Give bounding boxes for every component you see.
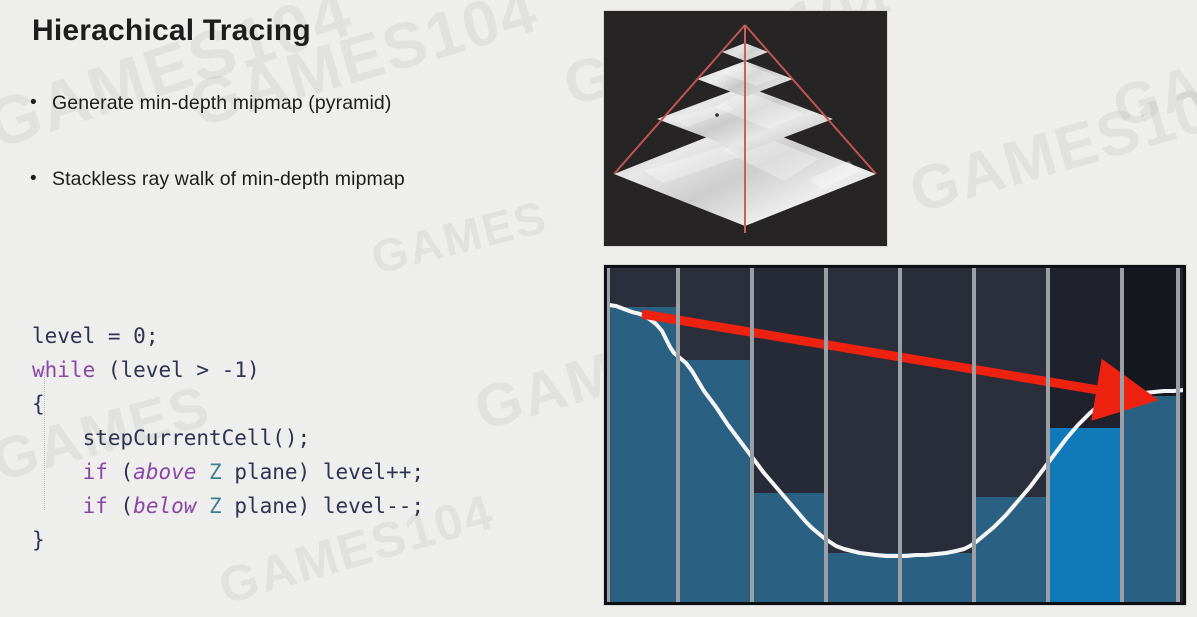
list-item: • Generate min-depth mipmap (pyramid) [26,90,566,116]
code-token: if [83,460,108,484]
code-line-4: stepCurrentCell(); [32,421,424,455]
bullet-dot-icon: • [26,90,52,116]
slide-root: GAMES104 GAMES104 GAMES104 GAMES104 GAME… [0,0,1197,617]
min-depth-fill-4 [826,553,900,603]
code-token: stepCurrentCell(); [32,426,310,450]
code-token: level [121,358,184,382]
min-depth-fill-3 [752,493,826,603]
mipmap-pyramid-figure [604,11,887,246]
code-token: { [32,392,45,416]
code-token: = [95,324,133,348]
code-token: Z [209,494,222,518]
code-token [32,460,83,484]
code-token: above [133,460,196,484]
code-token: below [133,494,196,518]
code-token: while [32,358,95,382]
code-token [196,460,209,484]
bullet-list: • Generate min-depth mipmap (pyramid) • … [26,90,566,242]
slide-title: Hierachical Tracing [32,14,311,48]
code-token: ( [108,494,133,518]
code-token: ( [108,460,133,484]
code-line-1: level = 0; [32,319,424,353]
code-token: plane) [222,460,323,484]
watermark: GAMES1 [1106,6,1197,141]
min-depth-fill-8 [1122,396,1178,603]
code-token: > [184,358,222,382]
cell-walk-svg [604,265,1186,605]
code-token: } [32,528,45,552]
code-token [32,494,83,518]
code-line-3: { [32,387,424,421]
code-token: level++; [323,460,424,484]
mip-layer-1-marker [715,113,719,117]
min-depth-cell-figure [604,265,1186,605]
bullet-dot-icon: • [26,166,52,192]
code-token [196,494,209,518]
code-line-6: if (below Z plane) level--; [32,489,424,523]
min-depth-fill-1 [607,307,678,603]
code-line-5: if (above Z plane) level++; [32,455,424,489]
watermark: GAMES104 [902,64,1197,228]
min-depth-fill-2 [678,360,752,603]
code-token: -1 [222,358,247,382]
bullet-text: Stackless ray walk of min-depth mipmap [52,166,405,192]
list-item: • Stackless ray walk of min-depth mipmap [26,166,566,192]
min-depth-fill-7 [1048,428,1122,603]
code-token: 0 [133,324,146,348]
code-line-7: } [32,523,424,557]
pyramid-svg [604,11,887,246]
code-token: plane) [222,494,323,518]
code-token: ) [247,358,260,382]
bullet-text: Generate min-depth mipmap (pyramid) [52,90,391,116]
code-token: ( [95,358,120,382]
code-token: level [32,324,95,348]
min-depth-fill-5 [900,553,974,603]
code-token: Z [209,460,222,484]
code-line-2: while (level > -1) [32,353,424,387]
min-depth-fill-6 [974,497,1048,603]
code-token: if [83,494,108,518]
code-token: level--; [323,494,424,518]
code-token: ; [146,324,159,348]
code-block: level = 0;while (level > -1){ stepCurren… [32,319,424,557]
